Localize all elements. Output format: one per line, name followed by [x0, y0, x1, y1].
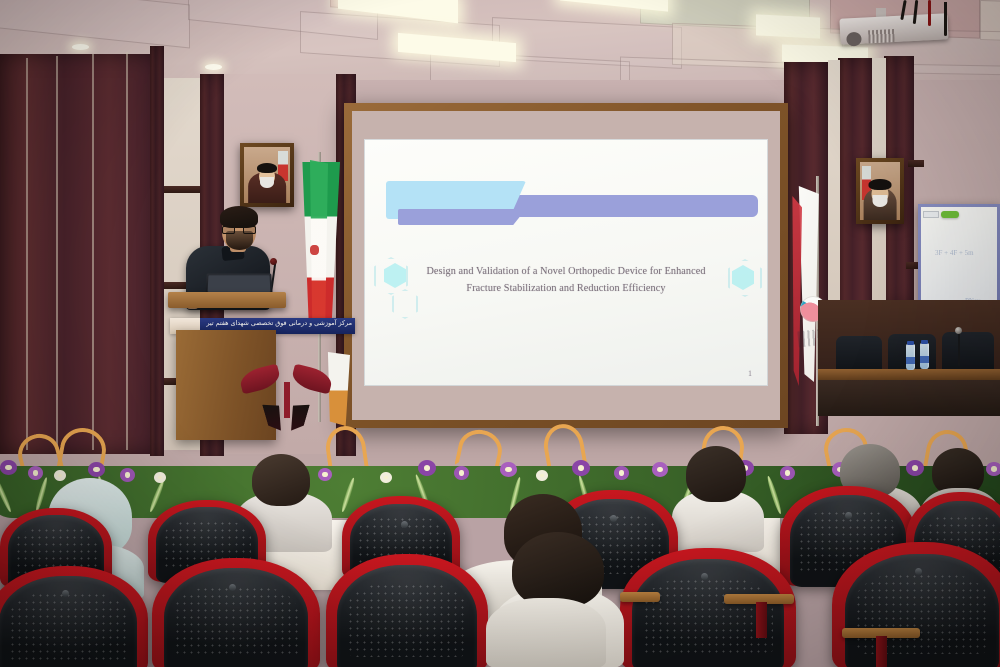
white-flower	[154, 472, 166, 483]
head-table-skirt	[818, 380, 1000, 416]
emblem-wing-left	[238, 363, 282, 394]
purple-flower	[906, 460, 924, 476]
conference-hall-photo: Design and Validation of a Novel Orthope…	[0, 0, 1000, 667]
auditorium-seat[interactable]	[620, 548, 796, 667]
slide-title: Design and Validation of a Novel Orthope…	[388, 263, 744, 299]
podium-top-ledge	[168, 292, 286, 308]
slide-title-line-2: Fracture Stabilization and Reduction Eff…	[388, 280, 744, 298]
ceiling-mounted-projector	[840, 8, 962, 46]
bottle-cap	[921, 340, 928, 344]
seat-perforation	[174, 586, 298, 658]
purple-flower	[120, 468, 135, 482]
ceiling-downlight	[205, 64, 222, 70]
seat-perforation	[643, 578, 773, 655]
auditorium-seat[interactable]	[0, 566, 148, 667]
slide-graphic-base	[398, 209, 526, 225]
projector-body	[839, 13, 948, 45]
portrait-turban	[869, 179, 892, 190]
portrait-beard	[873, 195, 888, 207]
purple-flower	[652, 462, 668, 477]
slide-title-line-1: Design and Validation of a Novel Orthope…	[388, 263, 744, 281]
ceiling-light-panel	[560, 0, 668, 12]
ceiling-downlight	[72, 44, 89, 50]
auditorium-seat[interactable]	[152, 558, 320, 667]
water-bottle[interactable]	[906, 344, 915, 370]
purple-flower	[572, 460, 590, 476]
bottle-label	[906, 357, 915, 364]
white-flower	[536, 470, 548, 481]
seat-perforation	[347, 583, 467, 657]
panel-chair[interactable]	[942, 332, 994, 374]
screen-mat: Design and Validation of a Novel Orthope…	[352, 111, 780, 420]
projector-cable	[944, 2, 947, 36]
seat-fastener	[701, 573, 708, 580]
portrait-image-khomeini	[244, 147, 290, 203]
projection-screen-frame: Design and Validation of a Novel Orthope…	[344, 103, 788, 428]
seat-armrest-post	[756, 602, 767, 638]
seat-armrest	[620, 592, 660, 602]
purple-flower	[0, 460, 17, 475]
table-microphone-stem	[958, 332, 960, 366]
white-flower	[54, 470, 66, 481]
venue-sign-text: مرکز آموزشی و درمانی فوق تخصصی شهدای هفت…	[200, 319, 352, 327]
purple-flower	[500, 462, 517, 477]
presentation-slide: Design and Validation of a Novel Orthope…	[364, 139, 768, 386]
framed-portrait-left	[240, 143, 294, 207]
audience-member-head	[686, 446, 746, 502]
portrait-turban	[257, 163, 277, 173]
emblem-wing-right	[290, 363, 334, 394]
auditorium-seat[interactable]	[326, 554, 488, 667]
audience-member-torso	[492, 612, 632, 667]
wall-accent-tick	[908, 160, 924, 167]
purple-flower	[28, 466, 43, 480]
bottle-cap	[907, 341, 914, 345]
purple-flower	[418, 460, 436, 476]
ceiling-light-panel	[756, 14, 820, 38]
presenter-hair	[220, 206, 258, 228]
podium-microphone-head	[270, 258, 277, 265]
portrait-image-khamenei	[860, 162, 900, 220]
projector-cable	[928, 0, 931, 26]
purple-flower	[614, 466, 629, 480]
white-flower	[380, 472, 392, 483]
laptop-screen	[208, 275, 271, 292]
projector-lens	[846, 32, 862, 47]
auditorium-seat[interactable]	[832, 542, 1000, 667]
water-bottle[interactable]	[920, 343, 929, 369]
audience-member-head	[252, 454, 310, 506]
purple-flower	[318, 468, 332, 481]
whiteboard-ink-note-1: 3F + 4F + 5m	[935, 249, 974, 257]
purple-flower	[780, 466, 795, 480]
emblem-leaf-left	[262, 400, 286, 433]
iran-flag-emblem-icon	[310, 245, 319, 255]
wall-wood-panel-left	[0, 54, 160, 454]
head-table-surface	[818, 369, 1000, 380]
purple-flower	[454, 466, 469, 480]
seat-fastener	[229, 584, 236, 591]
seat-perforation	[9, 592, 127, 660]
wall-wood-panel-left-edge	[150, 46, 164, 456]
table-microphone-head	[955, 327, 962, 334]
purple-flower	[88, 462, 105, 477]
seat-armrest-post	[876, 636, 887, 667]
bottle-label	[920, 356, 929, 363]
whiteboard-marker-icon[interactable]	[941, 211, 959, 218]
purple-flower	[986, 462, 1000, 476]
slide-page-number: 1	[748, 369, 752, 378]
emblem-stem	[284, 382, 290, 418]
whiteboard-note	[923, 211, 939, 218]
framed-portrait-right	[856, 158, 904, 224]
seat-fastener	[62, 590, 69, 597]
seat-fastener	[915, 568, 922, 575]
audience-member-head	[512, 532, 604, 608]
projector-vent	[868, 29, 895, 43]
portrait-beard	[260, 177, 274, 188]
